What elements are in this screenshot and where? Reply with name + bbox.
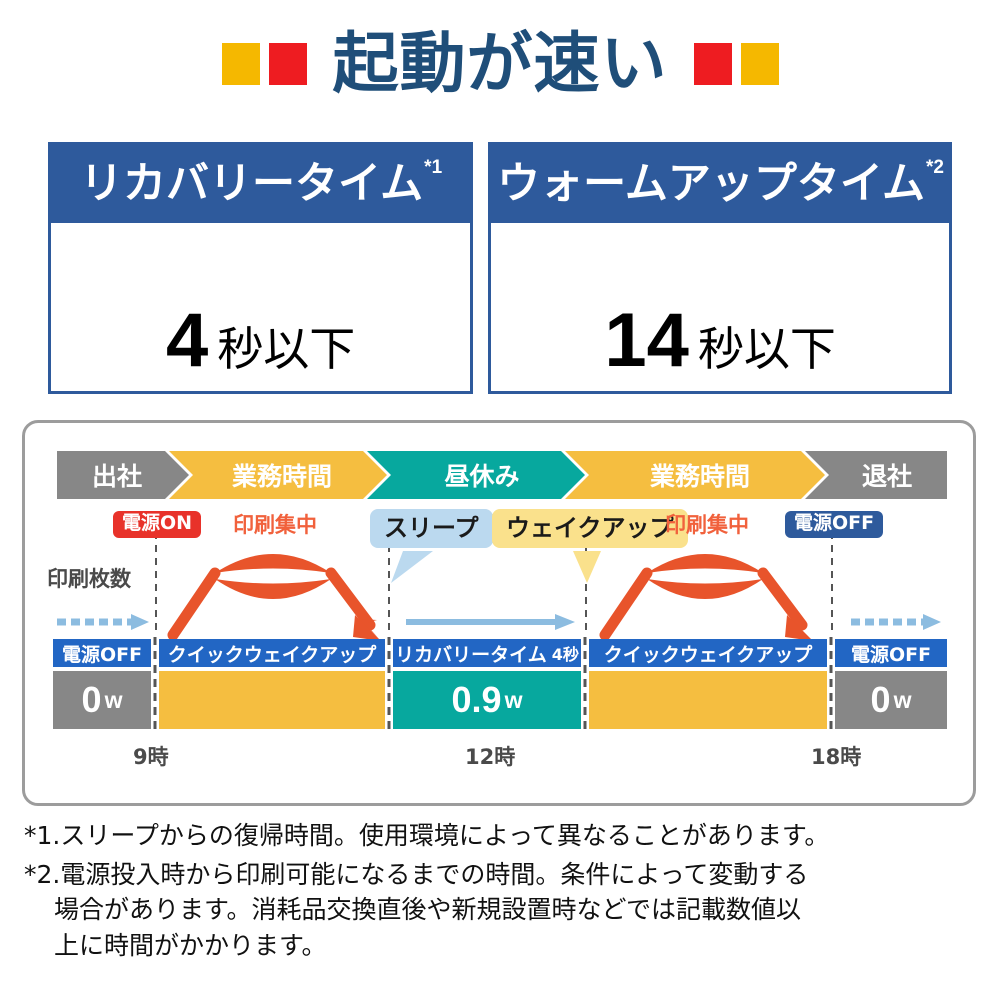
print-peak-label-afternoon: 印刷集中 [665,509,749,539]
timeline-diagram-card: 出社 業務時間 昼休み 業務時間 退社 [22,420,976,806]
stat-card-header: リカバリータイム*1 [51,145,470,223]
footnote-2-text-line1: 電源投入時から印刷可能になるまでの時間。条件によって変動する [60,860,808,889]
power-unit: w [105,689,123,712]
power-bar-recovery: 0.9w [393,671,581,729]
title-squares-right [694,43,779,85]
footnote-marker: *2 [926,157,944,179]
square-red-icon [694,43,732,85]
sleep-bubble: スリープ [370,509,493,548]
stat-unit: 秒以下 [217,326,355,377]
band-label-power-off-left: 電源OFF [53,639,151,667]
footnote-2-text-line3: 上に時間がかかります。 [24,928,974,964]
band-label-power-off-right: 電源OFF [835,639,947,667]
power-bar-quick-wakeup-afternoon [589,671,827,729]
power-bar-quick-wakeup-morning [159,671,385,729]
footnote-1-mark: *1. [24,821,60,850]
phase-chevron-band: 出社 業務時間 昼休み 業務時間 退社 [57,451,947,499]
stat-card-warmup-time: ウォームアップタイム*2 14 秒以下 [488,142,952,394]
time-tick-9: 9時 [133,741,169,771]
stat-value: 14 [604,305,689,377]
power-value: 0 [871,682,891,718]
phase-label-leave-work: 退社 [827,451,947,499]
stat-unit: 秒以下 [698,326,836,377]
power-unit: w [894,689,912,712]
power-on-badge: 電源ON [113,511,201,538]
stat-card-header: ウォームアップタイム*2 [491,145,949,223]
stat-card-title: リカバリータイム [80,163,423,206]
phase-label-work-hours-morning: 業務時間 [187,451,377,499]
footnote-2-text-line2: 場合があります。消耗品交換直後や新規設置時などでは記載数値以 [24,892,974,928]
stat-cards: リカバリータイム*1 4 秒以下 ウォームアップタイム*2 14 秒以下 [48,142,952,394]
wakeup-bubble: ウェイクアップ [492,509,688,548]
infographic-page: 起動が速い リカバリータイム*1 4 秒以下 ウォームアップタイム*2 14 秒… [0,0,1000,1000]
square-yellow-icon [741,43,779,85]
stat-card-recovery-time: リカバリータイム*1 4 秒以下 [48,142,473,394]
time-tick-12: 12時 [465,741,515,771]
power-off-badge: 電源OFF [785,511,883,538]
stat-value: 4 [166,305,208,377]
stat-card-body: 4 秒以下 [51,223,470,391]
footnote-1: *1.スリープからの復帰時間。使用環境によって異なることがあります。 [24,818,974,854]
phase-label-lunch-break: 昼休み [387,451,577,499]
title-squares-left [222,43,307,85]
footnote-1-text: スリープからの復帰時間。使用環境によって異なることがあります。 [60,821,829,850]
footnotes: *1.スリープからの復帰時間。使用環境によって異なることがあります。 *2.電源… [24,818,974,966]
power-bar-off-left: 0w [53,671,151,729]
phase-label-work-hours-afternoon: 業務時間 [585,451,815,499]
square-yellow-icon [222,43,260,85]
print-volume-axis-label: 印刷枚数 [47,563,131,593]
footnote-2-mark: *2. [24,860,60,889]
footnote-2: *2.電源投入時から印刷可能になるまでの時間。条件によって変動する 場合がありま… [24,857,974,964]
power-bar-off-right: 0w [835,671,947,729]
band-label-recovery-time: リカバリータイム4秒 [393,639,581,667]
stat-card-title: ウォームアップタイム [497,163,925,206]
time-tick-18: 18時 [811,741,861,771]
phase-label-start-work: 出社 [57,451,177,499]
page-title: 起動が速い [333,31,668,97]
power-value: 0.9 [452,682,502,718]
print-peak-label-morning: 印刷集中 [233,509,317,539]
band-label-quick-wakeup-afternoon: クイックウェイクアップ [589,639,827,667]
band-label-quick-wakeup-morning: クイックウェイクアップ [159,639,385,667]
stat-card-body: 14 秒以下 [491,223,949,391]
power-unit: w [505,689,523,712]
footnote-marker: *1 [424,157,442,179]
page-title-row: 起動が速い [0,18,1000,110]
power-value: 0 [82,682,102,718]
square-red-icon [269,43,307,85]
